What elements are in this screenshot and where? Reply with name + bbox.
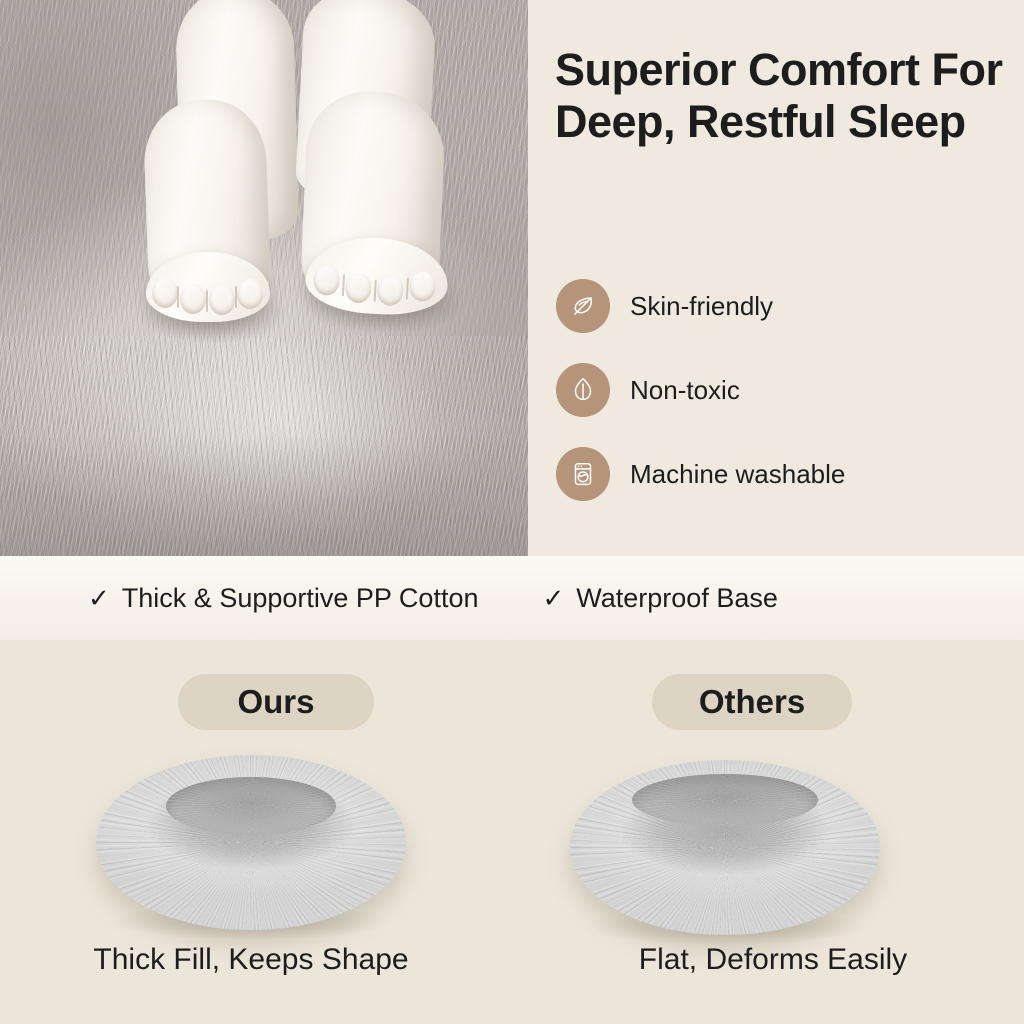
feature-list: Skin-friendly Non-toxic <box>556 264 1006 516</box>
hero-section: Superior Comfort For Deep, Restful Sleep… <box>0 0 1024 556</box>
check-icon: ✓ <box>88 583 110 614</box>
fur-bottom-shading <box>0 436 528 556</box>
feature-item-non-toxic: Non-toxic <box>556 348 1006 432</box>
paw-toe-separator <box>406 278 409 300</box>
product-image-others <box>570 760 880 935</box>
paw-toe <box>345 272 373 303</box>
bed-inner-texture <box>632 774 818 826</box>
feature-label: Non-toxic <box>630 375 740 406</box>
bed-inner-texture <box>166 777 336 835</box>
paw-toe-separator <box>235 286 237 308</box>
paw-toe <box>180 284 206 314</box>
check-icon: ✓ <box>542 583 564 614</box>
bed-inner-cavity <box>632 774 818 826</box>
paw-toe <box>237 279 263 309</box>
bed-inner-cavity <box>166 777 336 835</box>
comparison-section: Ours Others Thick Fill, Keeps Shape Flat… <box>0 640 1024 1024</box>
product-image-ours <box>96 755 406 930</box>
paw-toe-separator <box>206 290 208 312</box>
hero-photo <box>0 0 528 556</box>
comparison-caption-ours: Thick Fill, Keeps Shape <box>11 943 491 977</box>
comparison-pill-ours: Ours <box>178 674 374 730</box>
paw-toe <box>376 275 404 306</box>
paw-toe <box>409 271 437 302</box>
comparison-caption-others: Flat, Deforms Easily <box>533 943 1013 977</box>
highlight-item-pp-cotton: ✓ Thick & Supportive PP Cotton <box>88 583 478 614</box>
highlight-label: Waterproof Base <box>576 583 778 614</box>
comparison-pill-others: Others <box>652 674 852 730</box>
highlight-item-waterproof-base: ✓ Waterproof Base <box>542 583 777 614</box>
feature-label: Machine washable <box>630 459 845 490</box>
feather-icon <box>556 279 610 333</box>
paw-toe <box>313 265 341 296</box>
washing-machine-icon <box>556 447 610 501</box>
leaf-icon <box>556 363 610 417</box>
paw-toe <box>209 285 235 315</box>
headline: Superior Comfort For Deep, Restful Sleep <box>555 44 1015 148</box>
highlight-strip: ✓ Thick & Supportive PP Cotton ✓ Waterpr… <box>0 556 1024 640</box>
highlight-label: Thick & Supportive PP Cotton <box>122 583 479 614</box>
feature-label: Skin-friendly <box>630 291 773 322</box>
feature-item-machine-washable: Machine washable <box>556 432 1006 516</box>
hero-text-panel: Superior Comfort For Deep, Restful Sleep… <box>528 0 1024 556</box>
product-infographic: Superior Comfort For Deep, Restful Sleep… <box>0 0 1024 1024</box>
paw-toe <box>152 278 178 308</box>
paw-toe-separator <box>177 286 179 308</box>
feature-item-skin-friendly: Skin-friendly <box>556 264 1006 348</box>
